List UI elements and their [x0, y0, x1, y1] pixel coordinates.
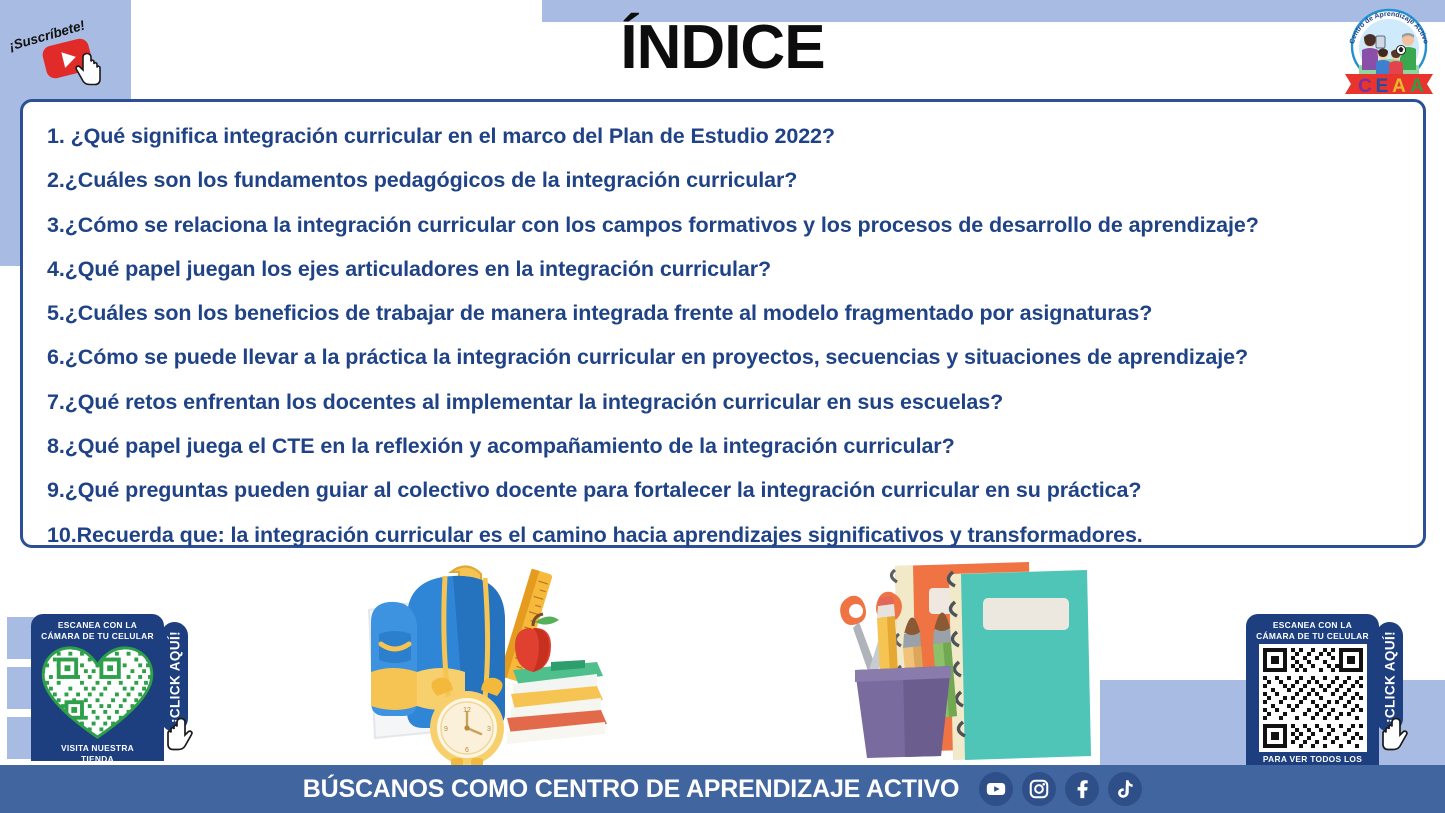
list-item-text: ¿Cómo se puede llevar a la práctica la i…: [65, 345, 1248, 369]
pointing-hand-icon: [163, 716, 197, 752]
svg-text:A: A: [1410, 76, 1424, 96]
list-item-number: 8.: [47, 434, 65, 458]
svg-text:E: E: [1376, 76, 1389, 96]
list-item-number: 3.: [47, 213, 65, 237]
index-panel: 1. ¿Qué significa integración curricular…: [20, 99, 1426, 548]
svg-text:C: C: [1358, 76, 1372, 96]
qr-bottom-line-1: PARA VER TODOS LOS: [1263, 754, 1362, 764]
list-item-number: 6.: [47, 345, 65, 369]
heart-shaped-qr-code[interactable]: [38, 644, 157, 741]
videos-qr-card[interactable]: ESCANEA CON LA CÁMARA DE TU CELULAR: [1246, 614, 1379, 782]
pointing-hand-icon: [1378, 716, 1412, 752]
list-item-number: 1.: [47, 124, 71, 148]
list-item-text: ¿Qué significa integración curricular en…: [71, 124, 835, 148]
qr-bottom-line-1: VISITA NUESTRA: [61, 743, 134, 753]
svg-text:9: 9: [444, 726, 448, 733]
qr-top-line-2: CÁMARA DE TU CELULAR: [41, 631, 154, 641]
qr-top-text: ESCANEA CON LA CÁMARA DE TU CELULAR: [38, 620, 157, 641]
list-item[interactable]: 7.¿Qué retos enfrentan los docentes al i…: [47, 380, 1399, 424]
list-item-text: ¿Qué retos enfrentan los docentes al imp…: [65, 390, 1003, 414]
social-links: [979, 772, 1142, 806]
list-item-text: ¿Qué papel juega el CTE en la reflexión …: [65, 434, 955, 458]
svg-text:6: 6: [465, 747, 469, 754]
qr-top-line-1: ESCANEA CON LA: [1273, 620, 1352, 630]
list-item-text: ¿Cómo se relaciona la integración curric…: [65, 213, 1259, 237]
qr-top-text: ESCANEA CON LA CÁMARA DE TU CELULAR: [1253, 620, 1372, 641]
facebook-icon[interactable]: [1065, 772, 1099, 806]
youtube-icon[interactable]: [979, 772, 1013, 806]
backpack-books-clock-apple-ruler-illustration: 123 69: [355, 552, 645, 767]
click-here-label: ¡CLICK AQUÍ!: [1382, 631, 1397, 723]
list-item-number: 5.: [47, 301, 65, 325]
list-item-number: 9.: [47, 478, 65, 502]
list-item-number: 4.: [47, 257, 65, 281]
list-item[interactable]: 2.¿Cuáles son los fundamentos pedagógico…: [47, 158, 1399, 202]
list-item[interactable]: 5.¿Cuáles son los beneficios de trabajar…: [47, 291, 1399, 335]
list-item-text: ¿Qué papel juegan los ejes articuladores…: [65, 257, 771, 281]
list-item[interactable]: 10.Recuerda que: la integración curricul…: [47, 513, 1399, 557]
ceaa-logo: Centro de Aprendizaje Activo C E A A: [1339, 4, 1439, 96]
svg-text:3: 3: [487, 726, 491, 733]
notebooks-pencil-cup-illustration: [833, 552, 1113, 767]
index-list: 1. ¿Qué significa integración curricular…: [47, 114, 1399, 557]
instagram-icon[interactable]: [1022, 772, 1056, 806]
list-item-text: ¿Cuáles son los beneficios de trabajar d…: [65, 301, 1153, 325]
footer-text: BÚSCANOS COMO CENTRO DE APRENDIZAJE ACTI…: [303, 775, 959, 804]
list-item[interactable]: 4.¿Qué papel juegan los ejes articulador…: [47, 247, 1399, 291]
list-item-text: Recuerda que: la integración curricular …: [77, 523, 1143, 547]
svg-text:A: A: [1392, 76, 1406, 96]
page-title: ÍNDICE: [0, 12, 1445, 83]
list-item-text: ¿Qué preguntas pueden guiar al colectivo…: [65, 478, 1142, 502]
tiktok-icon[interactable]: [1108, 772, 1142, 806]
qr-top-line-1: ESCANEA CON LA: [58, 620, 137, 630]
list-item[interactable]: 8.¿Qué papel juega el CTE en la reflexió…: [47, 424, 1399, 468]
list-item[interactable]: 6.¿Cómo se puede llevar a la práctica la…: [47, 335, 1399, 379]
footer-bar: BÚSCANOS COMO CENTRO DE APRENDIZAJE ACTI…: [0, 765, 1445, 813]
list-item-number: 10.: [47, 523, 77, 547]
list-item-text: ¿Cuáles son los fundamentos pedagógicos …: [65, 168, 798, 192]
square-qr-code[interactable]: [1259, 644, 1367, 752]
list-item-number: 2.: [47, 168, 65, 192]
qr-top-line-2: CÁMARA DE TU CELULAR: [1256, 631, 1369, 641]
list-item[interactable]: 9.¿Qué preguntas pueden guiar al colecti…: [47, 468, 1399, 512]
list-item[interactable]: 1. ¿Qué significa integración curricular…: [47, 114, 1399, 158]
store-qr-card[interactable]: ESCANEA CON LA CÁMARA DE TU CELULAR: [31, 614, 164, 782]
svg-text:12: 12: [463, 707, 471, 714]
list-item-number: 7.: [47, 390, 65, 414]
list-item[interactable]: 3.¿Cómo se relaciona la integración curr…: [47, 203, 1399, 247]
click-here-label: ¡CLICK AQUÍ!: [167, 631, 182, 723]
